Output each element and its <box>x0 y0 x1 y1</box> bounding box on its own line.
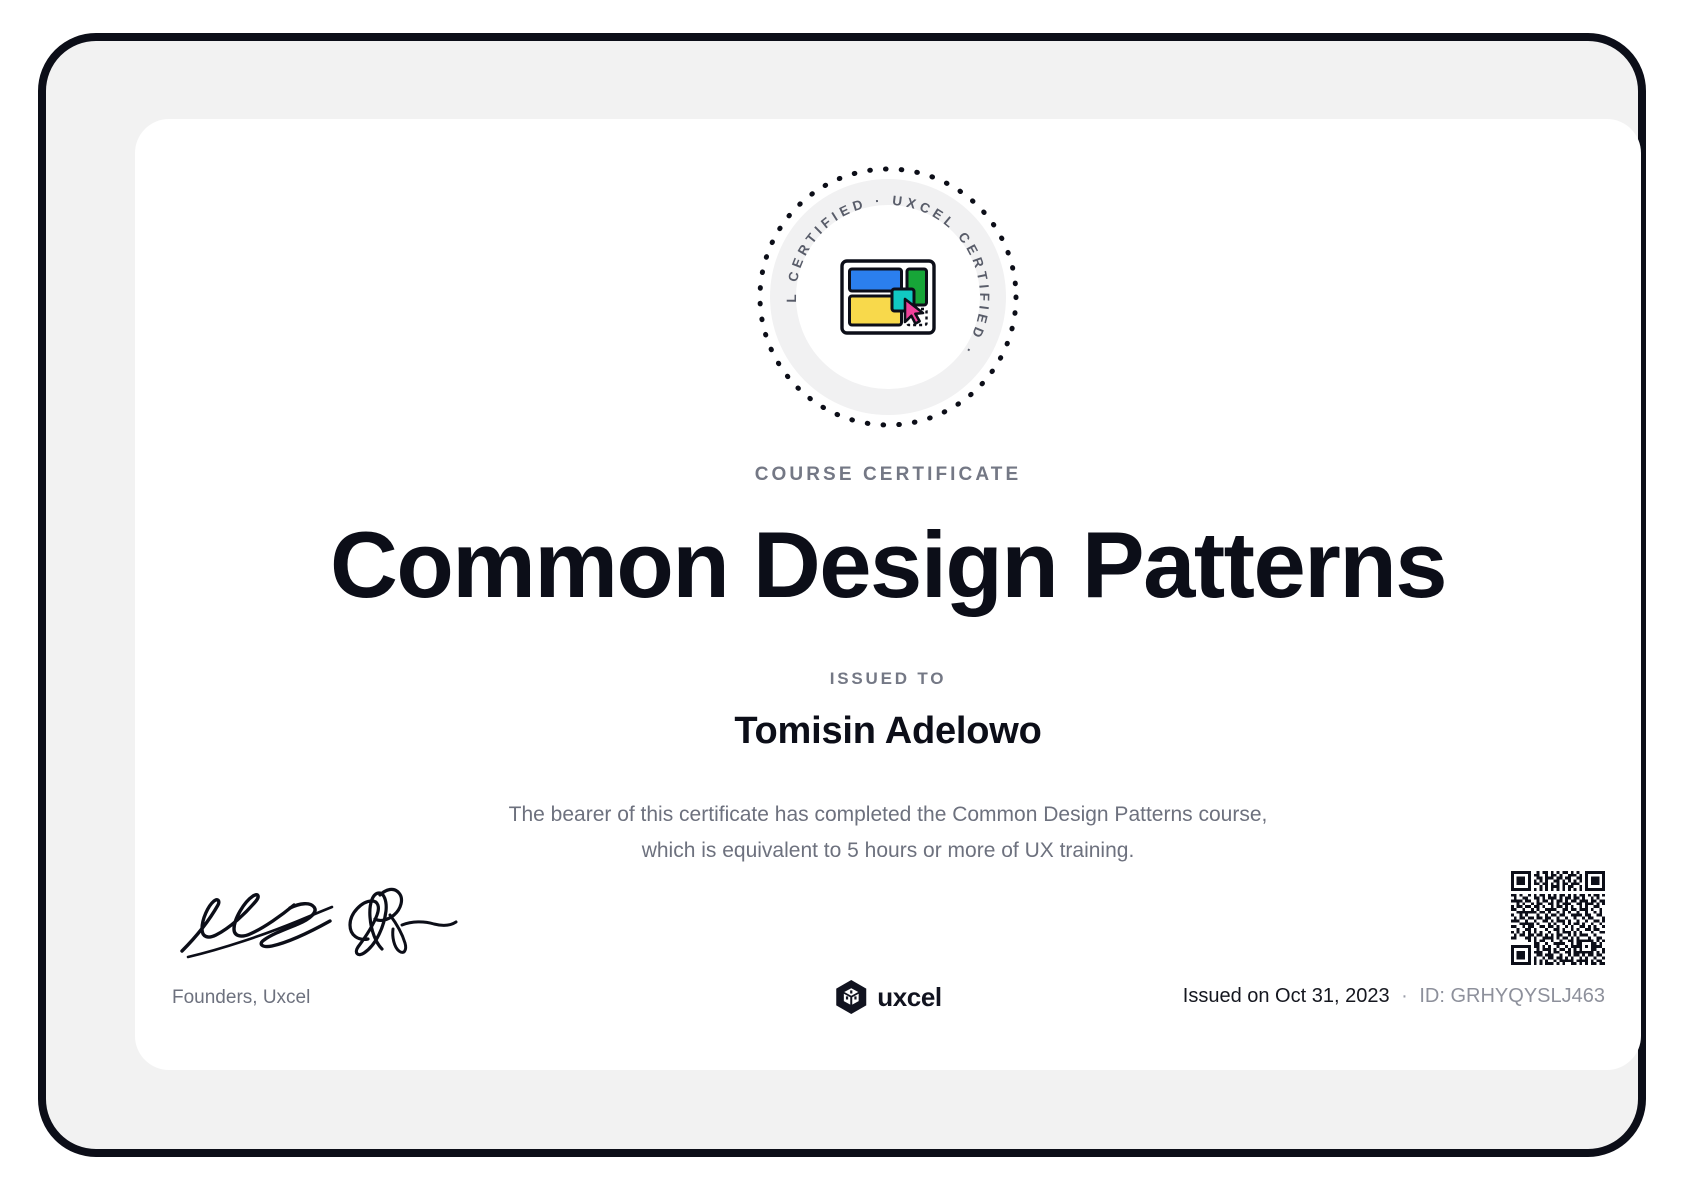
brand-name: uxcel <box>877 982 942 1013</box>
uxcel-cube-logo-icon <box>834 979 868 1015</box>
seal-ui-layout-icon <box>842 261 934 333</box>
page-title: Common Design Patterns <box>135 509 1641 621</box>
seal-svg: UXCEL CERTIFIED · UXCEL CERTIFIED · <box>753 162 1023 432</box>
kicker-label: COURSE CERTIFICATE <box>135 464 1641 486</box>
certificate-description: The bearer of this certificate has compl… <box>508 797 1268 869</box>
certificate-outer-frame: UXCEL CERTIFIED · UXCEL CERTIFIED · <box>38 33 1646 1157</box>
uxcel-certified-seal: UXCEL CERTIFIED · UXCEL CERTIFIED · <box>753 162 1023 432</box>
handwritten-signatures-icon <box>172 879 462 967</box>
certificate-id: ID: GRHYQYSLJ463 <box>1419 985 1605 1007</box>
qr-code-svg[interactable] <box>1511 871 1605 965</box>
certificate-inner-card: UXCEL CERTIFIED · UXCEL CERTIFIED · <box>135 119 1641 1070</box>
issued-on-date: Issued on Oct 31, 2023 <box>1183 985 1390 1007</box>
issued-to-label: ISSUED TO <box>135 669 1641 689</box>
signature-block: Founders, Uxcel <box>172 879 502 1009</box>
uxcel-brand-logo: uxcel <box>834 979 942 1015</box>
recipient-name: Tomisin Adelowo <box>135 710 1641 753</box>
founders-label: Founders, Uxcel <box>172 987 502 1009</box>
certificate-root: UXCEL CERTIFIED · UXCEL CERTIFIED · <box>0 0 1684 1190</box>
qr-code-icon[interactable] <box>1511 871 1605 965</box>
meta-separator: · <box>1395 985 1414 1007</box>
issue-meta: Issued on Oct 31, 2023 · ID: GRHYQYSLJ46… <box>1183 985 1605 1008</box>
